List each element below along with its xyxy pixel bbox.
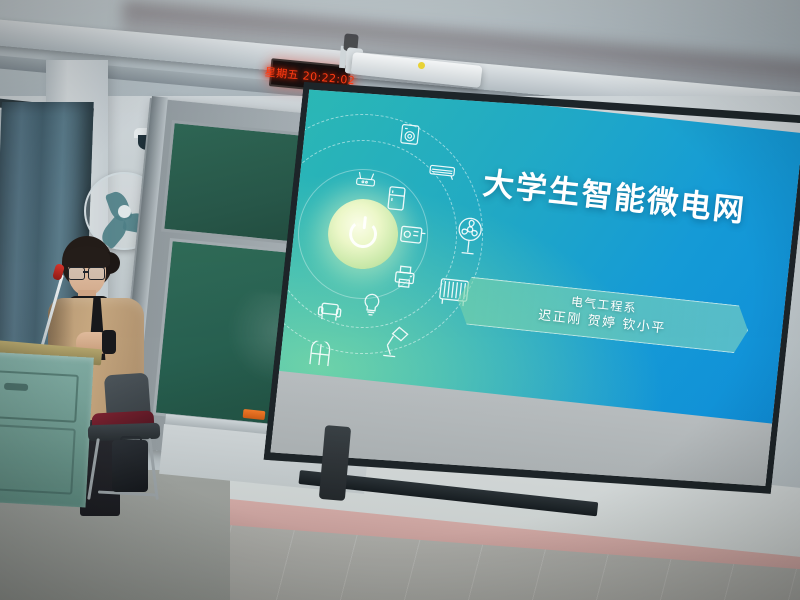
glasses-lens-right [88,267,105,280]
podium-drawer-handle [4,383,28,391]
water-heater-icon [399,223,427,248]
hair-fringe [64,246,110,268]
backpack-on-floor [112,440,148,492]
podium-drawer-panel [0,370,79,423]
lightbulb-icon [359,291,383,317]
router-icon [355,170,377,188]
desk-lamp-icon [377,323,410,360]
sleeve-cuff [102,330,116,354]
fan-icon [454,215,484,258]
smart-appliance-ring-graphic [278,96,500,371]
fan-hub [118,205,131,218]
slide-subtitle-band: 电气工程系 迟正刚 贺婷 钦小平 [455,276,750,355]
armchair-icon [317,299,343,323]
glasses [68,267,106,278]
podium-lower-panel [0,424,76,494]
slide-title: 大学生智能微电网 [448,154,781,234]
washing-machine-icon [398,122,422,146]
lecture-podium [0,352,94,507]
refrigerator-icon [387,186,406,212]
glasses-lens-left [68,267,85,280]
classroom-presentation-photo: 星期五 20:22:02 [0,0,800,600]
window-icon [306,340,335,369]
printer-icon [393,265,417,289]
power-glyph [348,219,379,250]
